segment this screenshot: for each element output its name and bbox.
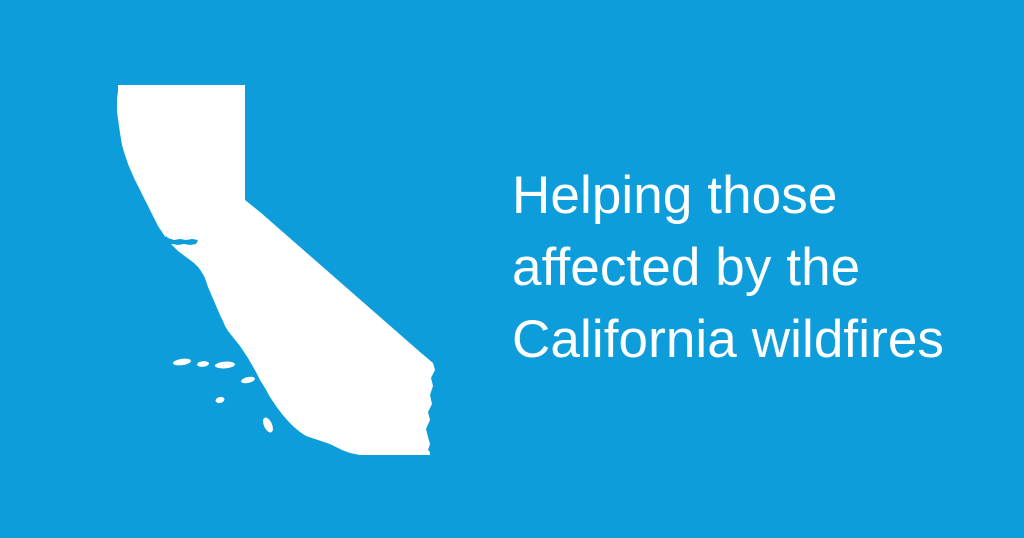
california-mainland-shape [117,85,435,455]
channel-island-3 [215,361,235,369]
poster-canvas: Helping those affected by the California… [0,0,1024,538]
channel-island-8 [261,416,275,434]
channel-island-4 [241,376,256,385]
headline-line-2: affected by the [512,232,952,304]
channel-island-1 [173,358,192,367]
channel-island-6 [215,396,225,404]
california-map-figure [60,40,480,500]
channel-island-2 [197,361,210,368]
headline-block: Helping those affected by the California… [512,160,952,376]
headline-line-3: California wildfires [512,304,952,376]
headline-line-1: Helping those [512,160,952,232]
